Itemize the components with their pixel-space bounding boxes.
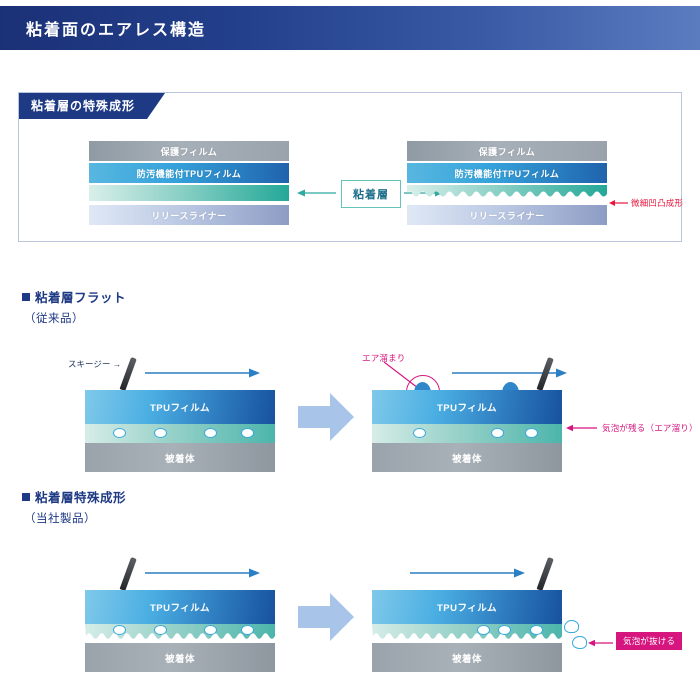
process-arrow-flat	[298, 393, 354, 441]
tpu-film-band: TPUフィルム	[372, 590, 562, 624]
section-flat-heading: 粘着層フラット	[22, 287, 126, 306]
air-bubble	[530, 625, 543, 635]
panel-tab-label: 粘着層の特殊成形	[19, 93, 165, 119]
section-flat-subheading: （従来品）	[24, 310, 84, 326]
substrate-band: 被着体	[85, 443, 275, 472]
air-bubble	[477, 625, 490, 635]
layer-release-liner: リリースライナー	[89, 205, 289, 225]
escaping-bubble	[572, 636, 587, 649]
air-bubble	[491, 428, 504, 438]
tpu-film-band: TPUフィルム	[85, 590, 275, 624]
layer-tpu-film: 防汚機能付TPUフィルム	[89, 163, 289, 183]
bubble-remains-label: 気泡が残る（エア溜り）	[602, 422, 698, 434]
air-bubble	[113, 625, 126, 635]
air-bubble	[525, 428, 538, 438]
bubble-remains-arrow	[566, 423, 598, 433]
sample-flat-after: TPUフィルム 被着体	[372, 390, 562, 472]
layer-protective-film: 保護フィルム	[89, 141, 289, 161]
texture-callout-arrow	[609, 198, 629, 208]
air-bubble	[241, 428, 254, 438]
squeegee-tool	[537, 557, 554, 591]
section-textured-subheading: （当社製品）	[24, 510, 96, 526]
layer-stack-textured: 保護フィルム 防汚機能付TPUフィルム リリースライナー	[407, 141, 607, 225]
layer-protective-film: 保護フィルム	[407, 141, 607, 161]
sample-flat-before: TPUフィルム 被着体	[85, 390, 275, 472]
substrate-band: 被着体	[372, 643, 562, 672]
arrow-to-left-stack	[297, 187, 337, 199]
air-bubble	[204, 428, 217, 438]
air-bubble	[154, 428, 167, 438]
bullet-square-icon	[22, 493, 30, 501]
process-arrow-textured	[298, 593, 354, 641]
substrate-band: 被着体	[372, 443, 562, 472]
sample-textured-after: TPUフィルム 被着体	[372, 590, 562, 672]
section-textured-heading: 粘着層特殊成形	[22, 487, 126, 506]
layer-stack-flat: 保護フィルム 防汚機能付TPUフィルム リリースライナー	[89, 141, 289, 225]
squeegee-tool	[120, 357, 137, 391]
layer-tpu-film: 防汚機能付TPUフィルム	[407, 163, 607, 183]
adhesive-forming-panel: 粘着層の特殊成形 保護フィルム 防汚機能付TPUフィルム リリースライナー 粘着…	[18, 92, 682, 242]
sample-textured-before: TPUフィルム 被着体	[85, 590, 275, 672]
air-bubble	[241, 625, 254, 635]
air-bubble	[204, 625, 217, 635]
squeegee-direction-arrow	[145, 367, 260, 379]
page-title: 粘着面のエアレス構造	[26, 16, 206, 40]
air-bubble	[498, 625, 511, 635]
squeegee-direction-arrow	[145, 567, 260, 579]
texture-callout-label: 微細凹凸成形	[631, 197, 683, 209]
air-bubble	[154, 625, 167, 635]
layer-release-liner: リリースライナー	[407, 205, 607, 225]
squeegee-tool	[120, 557, 137, 591]
layer-adhesive	[89, 185, 289, 201]
bubble-escape-label: 気泡が抜ける	[616, 632, 682, 650]
tpu-film-band: TPUフィルム	[85, 390, 275, 424]
adhesive-layer-callout: 粘着層	[341, 180, 401, 208]
bubble-escape-arrow	[588, 638, 614, 648]
layer-adhesive-textured	[407, 185, 607, 201]
squeegee-direction-arrow	[410, 567, 525, 579]
air-bubble	[413, 428, 426, 438]
air-bubble	[113, 428, 126, 438]
substrate-band: 被着体	[85, 643, 275, 672]
page-header: 粘着面のエアレス構造	[0, 6, 700, 50]
bullet-square-icon	[22, 293, 30, 301]
tpu-film-band: TPUフィルム	[372, 390, 562, 424]
escaping-bubble	[564, 620, 579, 633]
squeegee-label: スキージー →	[68, 358, 121, 370]
